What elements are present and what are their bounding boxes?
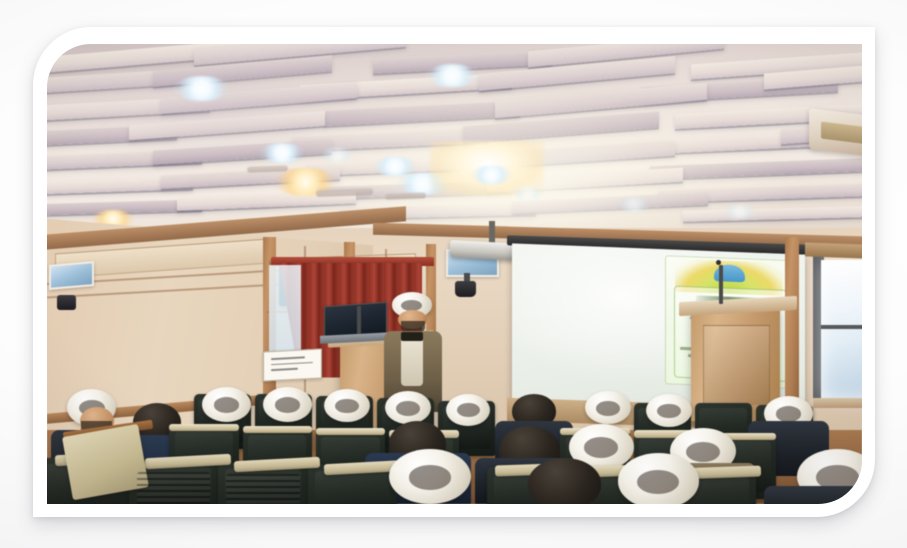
- information-placard: [263, 348, 322, 381]
- security-camera-icon: [455, 281, 476, 298]
- lectern-front-panel: [703, 325, 770, 405]
- seat-back-detail: [137, 472, 210, 504]
- framed-picture: [49, 261, 94, 290]
- wall-column: [785, 237, 800, 412]
- attendee-turban: [202, 387, 251, 422]
- attendee-turban: [585, 391, 631, 424]
- seat-top-edge: [243, 426, 312, 433]
- recessed-light: [618, 198, 651, 212]
- seat-back-detail: [226, 474, 299, 504]
- attendee-body: [764, 486, 862, 504]
- wall-sensor-icon: [57, 295, 77, 311]
- microphone-stem: [719, 265, 723, 304]
- page-root: Photograph of a lecture hall session: a …: [0, 0, 907, 548]
- recessed-light: [259, 143, 305, 163]
- attendee-head: [528, 458, 601, 504]
- attendee-turban: [324, 389, 370, 422]
- placard-text-line: [271, 356, 305, 359]
- seat-top-edge: [169, 424, 238, 431]
- recessed-light: [320, 148, 354, 163]
- photo-image: [47, 44, 862, 504]
- microphone-stem: [357, 306, 361, 334]
- right-window: [821, 260, 862, 398]
- attendee-turban: [618, 453, 700, 504]
- window-mullion: [821, 325, 862, 330]
- speaker-collar: [401, 332, 423, 342]
- seat-top-edge: [316, 428, 385, 435]
- placard-text-line: [271, 368, 298, 371]
- photo-card-frame: [33, 27, 875, 517]
- attendee-turban: [646, 394, 692, 427]
- attendee-turban: [446, 394, 490, 426]
- recessed-light: [173, 76, 230, 101]
- attendee-turban: [389, 449, 471, 504]
- recessed-light: [471, 166, 512, 184]
- window-sill: [813, 398, 862, 408]
- attendee-turban: [263, 387, 312, 422]
- lecture-hall-scene: [47, 44, 862, 504]
- recessed-light: [723, 205, 756, 219]
- placard-text-line: [271, 361, 313, 365]
- projector-mount-rod: [489, 221, 496, 243]
